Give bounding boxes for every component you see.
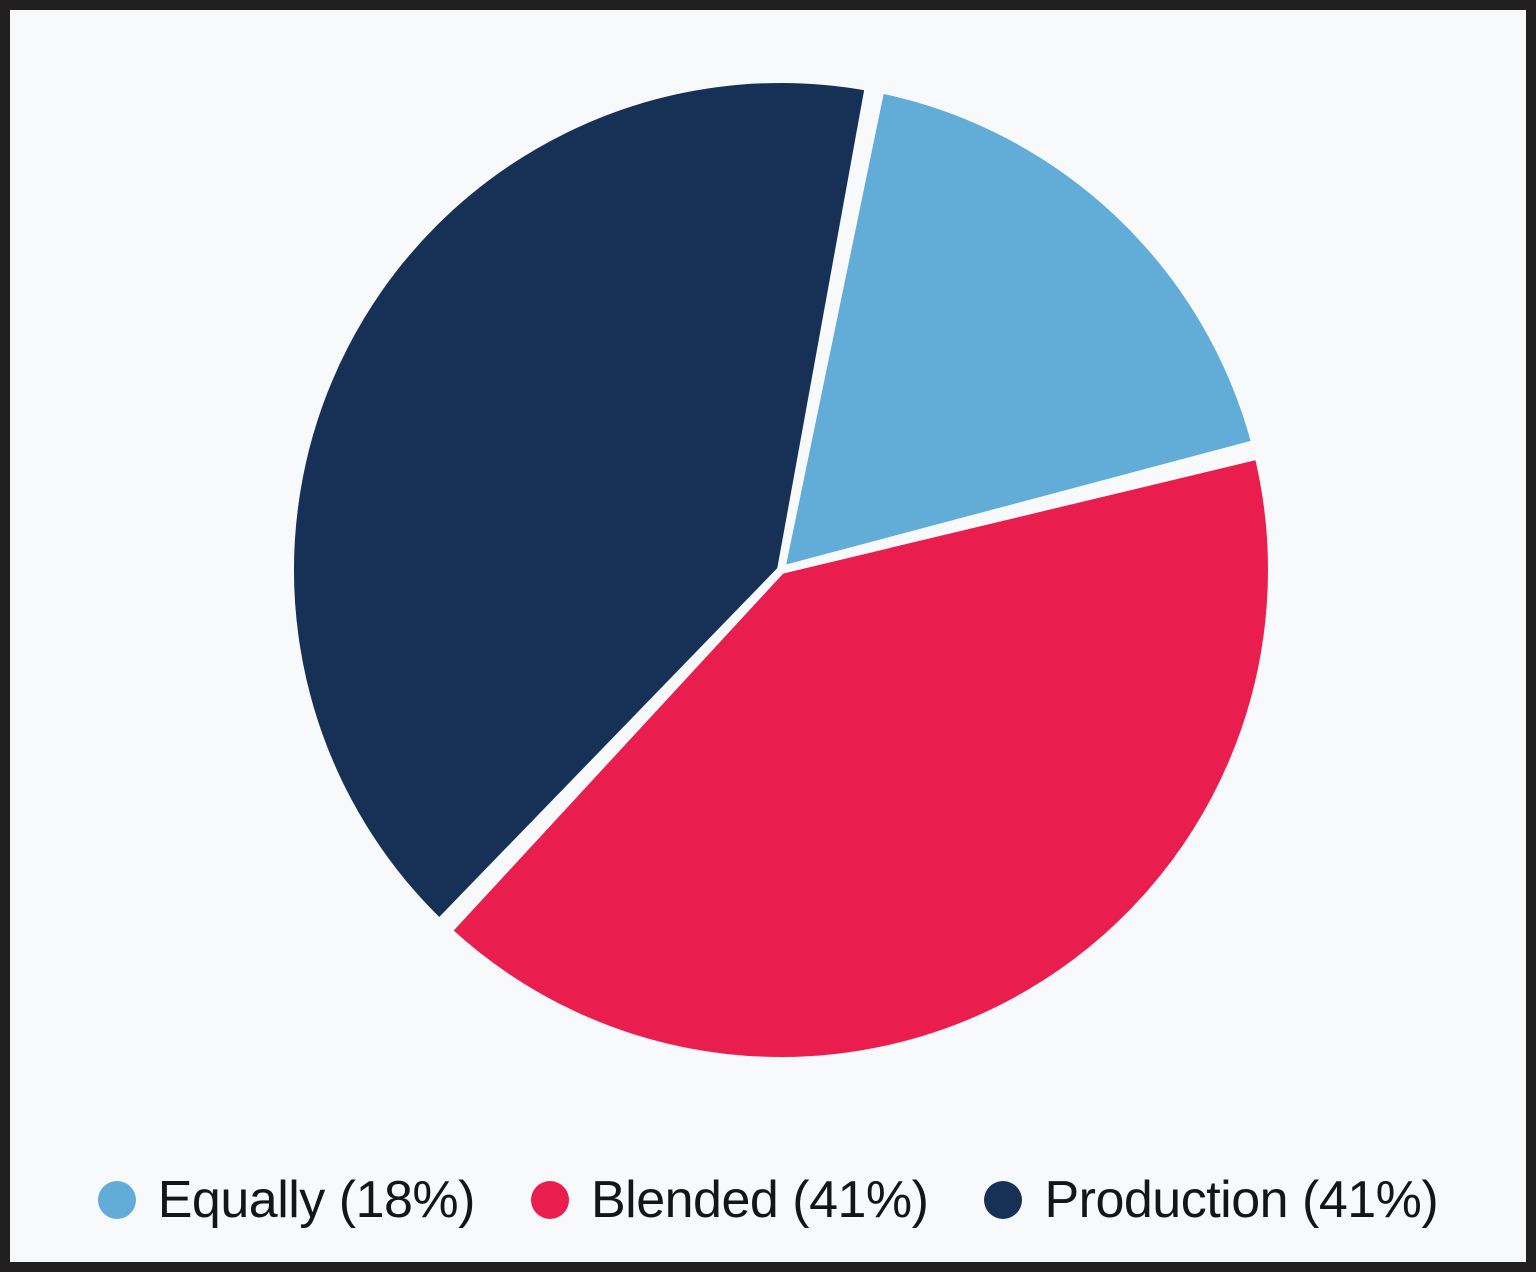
pie-chart-plot-area [10, 10, 1526, 1130]
pie-slice-group [290, 79, 1272, 1061]
legend-label-blended: Blended (41%) [591, 1174, 929, 1226]
legend-item-equally[interactable]: Equally (18%) [98, 1174, 475, 1226]
chart-legend: Equally (18%) Blended (41%) Production (… [10, 1174, 1526, 1226]
legend-item-blended[interactable]: Blended (41%) [531, 1174, 929, 1226]
pie-chart-svg [10, 10, 1526, 1130]
legend-color-dot-blended [531, 1181, 569, 1219]
legend-label-equally: Equally (18%) [158, 1174, 475, 1226]
legend-color-dot-equally [98, 1181, 136, 1219]
legend-item-production[interactable]: Production (41%) [984, 1174, 1438, 1226]
legend-label-production: Production (41%) [1044, 1174, 1438, 1226]
legend-color-dot-production [984, 1181, 1022, 1219]
chart-figure: Equally (18%) Blended (41%) Production (… [0, 0, 1536, 1272]
